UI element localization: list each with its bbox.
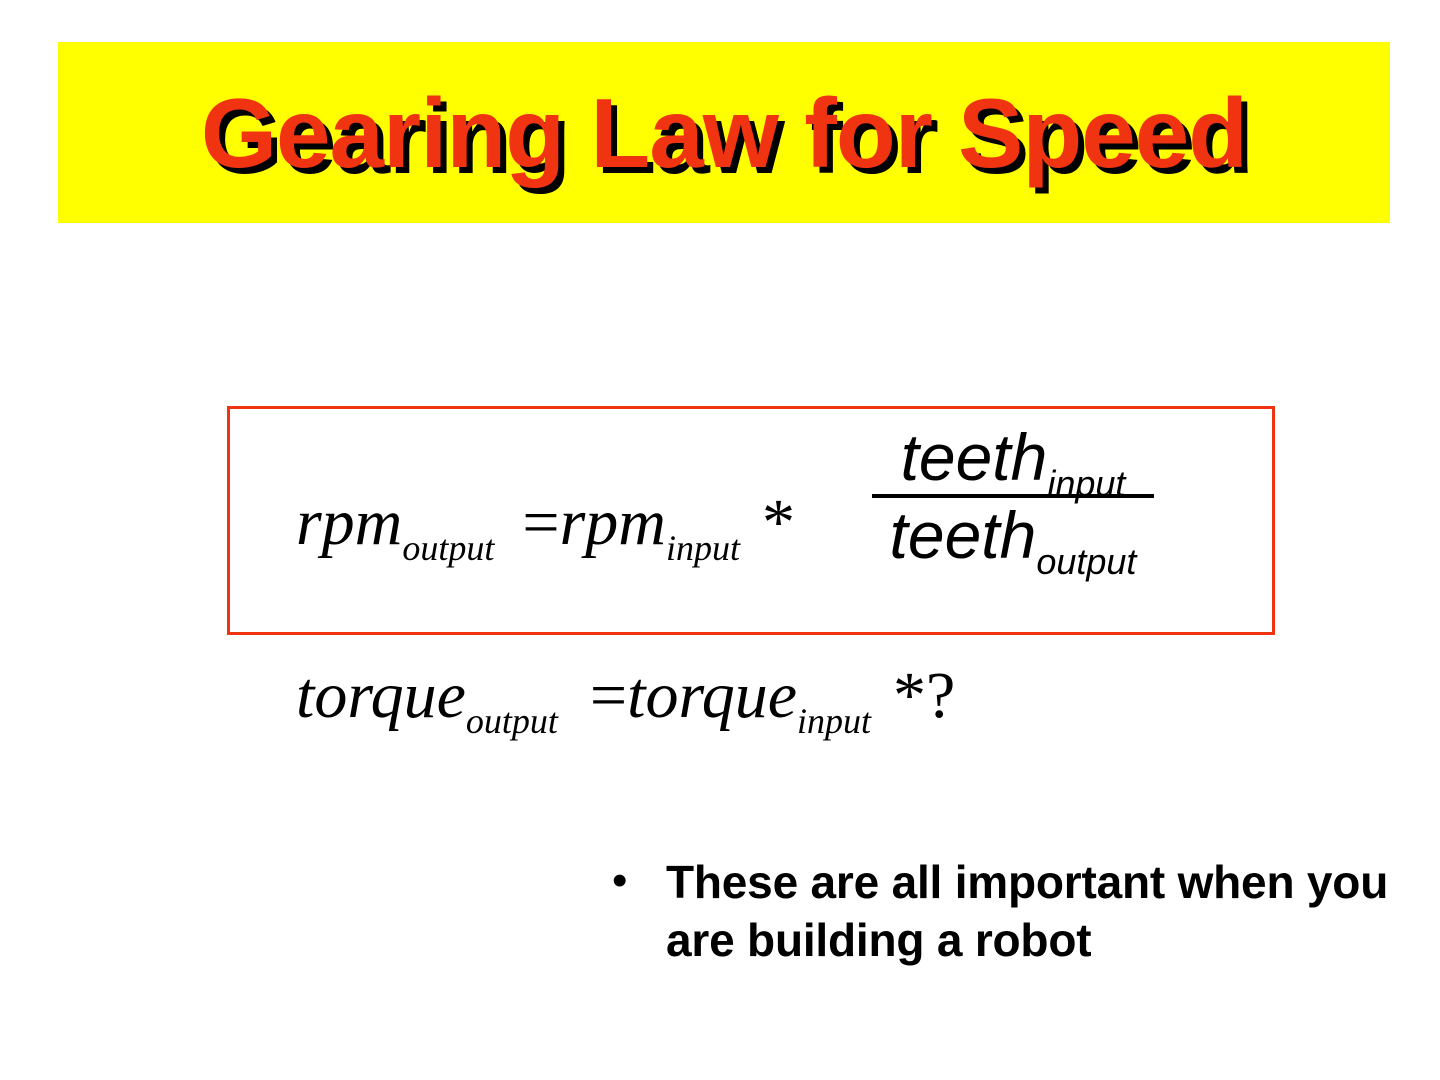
equation-torque-lhs: torqueoutput (296, 663, 558, 729)
fraction-teeth-ratio: teethinput teethoutput (872, 424, 1154, 568)
equation-rpm-multiply-sign: * (762, 490, 795, 556)
equation-rpm-lhs-subscript: output (402, 528, 494, 568)
fraction-numerator: teethinput (895, 424, 1132, 490)
equation-rpm-lhs: rpmoutput (296, 490, 494, 556)
equation-rpm-rhs-variable: rpm (560, 486, 666, 559)
bullet-list: • These are all important when you are b… (612, 853, 1402, 969)
equation-torque: torqueoutput = torqueinput * ? (296, 663, 955, 729)
equation-rpm-rhs: rpminput (560, 490, 740, 556)
equation-torque-unknown: ? (926, 663, 955, 729)
fraction-denominator-subscript: output (1036, 544, 1136, 580)
equation-torque-rhs: torqueinput (627, 663, 871, 729)
equation-torque-equals-sign: = (590, 663, 627, 729)
fraction-denominator-variable: teeth (890, 502, 1037, 568)
equation-rpm-rhs-subscript: input (666, 528, 740, 568)
equation-rpm-equals-sign: = (522, 490, 559, 556)
equation-rpm-lhs-variable: rpm (296, 486, 402, 559)
fraction-numerator-variable: teeth (901, 424, 1048, 490)
equation-torque-lhs-variable: torque (296, 659, 466, 732)
page-title: Gearing Law for Speed (201, 84, 1247, 182)
bullet-item-text: These are all important when you are bui… (666, 853, 1402, 969)
equation-torque-rhs-variable: torque (627, 659, 797, 732)
fraction-numerator-subscript: input (1047, 466, 1125, 502)
fraction-denominator: teethoutput (884, 502, 1143, 568)
title-banner: Gearing Law for Speed (58, 42, 1390, 223)
equation-rpm: rpmoutput = rpminput * (296, 490, 807, 556)
bullet-marker-icon: • (612, 853, 666, 909)
equation-torque-rhs-subscript: input (797, 701, 871, 741)
equation-torque-lhs-subscript: output (466, 701, 558, 741)
equation-torque-multiply-sign: * (893, 663, 926, 729)
